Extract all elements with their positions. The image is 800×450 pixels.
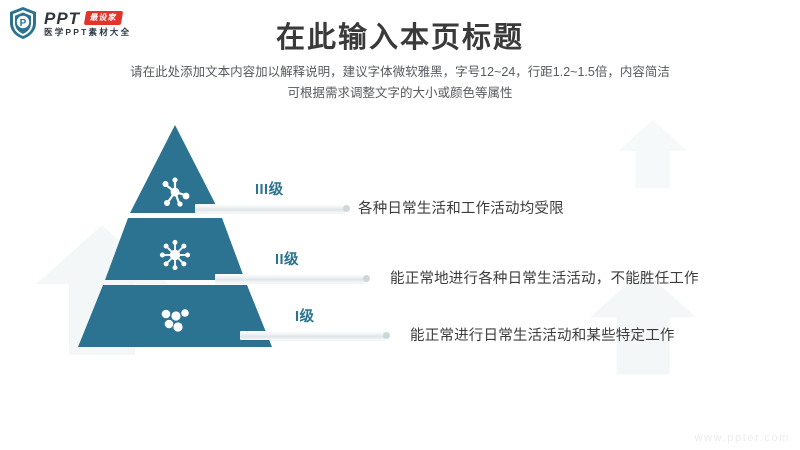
footer-watermark: www.ppter.com (695, 432, 790, 444)
connector-dot-1 (383, 332, 390, 339)
level-label-3: III级 (255, 178, 284, 199)
level-description-1: 能正常进行日常生活活动和某些特定工作 (410, 324, 675, 345)
pyramid-tier-2[interactable] (55, 218, 295, 280)
subtitle-line-2: 可根据需求调整文字的大小或颜色等属性 (0, 83, 800, 104)
level-description-3: 各种日常生活和工作活动均受限 (358, 197, 564, 218)
connector-line-2 (215, 273, 370, 283)
subtitle-line-1: 请在此处添加文本内容加以解释说明，建议字体微软雅黑，字号12~24，行距1.2~… (0, 62, 800, 83)
connector-dot-2 (363, 275, 370, 282)
page-title: 在此输入本页标题 (0, 14, 800, 56)
page-subtitle: 请在此处添加文本内容加以解释说明，建议字体微软雅黑，字号12~24，行距1.2~… (0, 62, 800, 104)
level-label-1: I级 (295, 305, 315, 326)
connector-line-1 (240, 330, 390, 340)
level-description-2: 能正常地进行各种日常生活活动，不能胜任工作 (390, 267, 699, 288)
pyramid-diagram (55, 125, 295, 360)
connector-dot-3 (343, 205, 350, 212)
level-label-2: II级 (275, 248, 299, 269)
pyramid-tier-3[interactable] (55, 125, 295, 213)
connector-line-3 (195, 203, 350, 213)
